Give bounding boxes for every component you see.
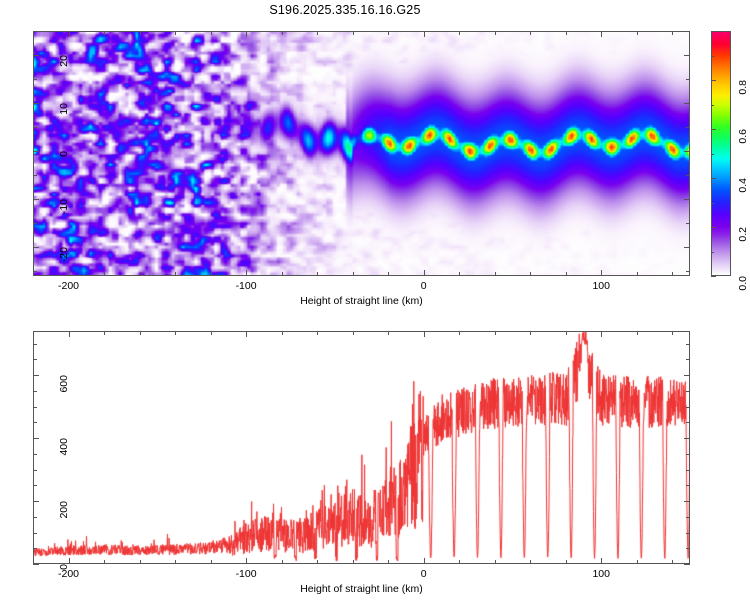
snr-x-top-tick: [637, 331, 638, 335]
spec-y-right-tick: [684, 55, 690, 56]
spec-x-minor-tick: [637, 272, 638, 276]
spec-y-right-tick: [686, 79, 690, 80]
snr-x-top-tick: [246, 331, 247, 337]
spec-y-right-tick: [684, 151, 690, 152]
snr-y-tick: [33, 533, 37, 534]
colorbar-tick: [711, 276, 716, 277]
colorbar-minor-tick: [711, 203, 714, 204]
snr-y-right-tick: [686, 391, 690, 392]
snr-y-tick: [33, 438, 39, 439]
snr-plot-area: [33, 331, 690, 564]
spec-x-minor-tick: [672, 272, 673, 276]
snr-y-right-tick: [686, 407, 690, 408]
snr-x-minor-tick: [672, 560, 673, 564]
snr-x-minor-tick: [530, 560, 531, 564]
snr-y-tick: [33, 470, 37, 471]
snr-x-top-tick: [530, 331, 531, 335]
snr-y-right-tick: [686, 485, 690, 486]
spec-x-top-tick: [282, 31, 283, 35]
spec-y-tick: [33, 175, 37, 176]
spec-y-tick: [33, 127, 37, 128]
colorbar: [711, 31, 731, 276]
colorbar-tick-label: 0.6: [737, 129, 749, 169]
snr-x-minor-tick: [353, 560, 354, 564]
snr-y-tick: [33, 375, 39, 376]
snr-y-right-tick: [686, 454, 690, 455]
snr-x-minor-tick: [495, 560, 496, 564]
snr-x-tick-label: 0: [394, 568, 454, 580]
spec-x-top-tick: [495, 31, 496, 35]
spec-y-tick-label: 10: [58, 103, 70, 143]
snr-y-tick: [33, 454, 37, 455]
snr-y-tick: [33, 548, 37, 549]
snr-x-minor-tick: [211, 560, 212, 564]
snr-x-top-tick: [601, 331, 602, 337]
colorbar-minor-tick: [711, 252, 714, 253]
spec-x-tick-label: 100: [571, 280, 631, 292]
snr-y-tick: [33, 359, 37, 360]
snr-y-tick: [33, 517, 37, 518]
colorbar-tick-label: 0.4: [737, 178, 749, 218]
spec-x-top-tick: [637, 31, 638, 35]
spec-y-tick: [33, 55, 39, 56]
spec-x-top-tick: [566, 31, 567, 35]
spec-x-minor-tick: [282, 272, 283, 276]
spectrogram-plot-area: [33, 31, 690, 276]
snr-x-top-tick: [211, 331, 212, 335]
spec-y-tick: [33, 247, 39, 248]
snr-x-minor-tick: [566, 560, 567, 564]
spec-x-top-tick: [424, 31, 425, 37]
colorbar-tick: [711, 129, 716, 130]
spectrogram-canvas: [34, 32, 690, 276]
spec-x-top-tick: [140, 31, 141, 35]
spec-x-minor-tick: [495, 272, 496, 276]
spec-x-top-tick: [175, 31, 176, 35]
snr-x-top-tick: [566, 331, 567, 335]
snr-x-top-tick: [317, 331, 318, 335]
snr-x-top-tick: [69, 331, 70, 337]
snr-y-tick: [33, 391, 37, 392]
spec-y-tick-label: 20: [58, 55, 70, 95]
spec-y-tick: [33, 199, 39, 200]
snr-x-top-tick: [353, 331, 354, 335]
spec-x-top-tick: [317, 31, 318, 35]
spec-y-tick: [33, 31, 37, 32]
snr-x-minor-tick: [140, 560, 141, 564]
spec-y-tick: [33, 271, 37, 272]
spec-x-top-tick: [388, 31, 389, 35]
colorbar-minor-tick: [711, 56, 714, 57]
spec-x-minor-tick: [140, 272, 141, 276]
spec-x-top-tick: [104, 31, 105, 35]
snr-y-tick-label: 600: [58, 375, 70, 415]
snr-y-right-tick: [686, 548, 690, 549]
spec-y-right-tick: [686, 175, 690, 176]
spec-x-top-tick: [601, 31, 602, 37]
spec-x-minor-tick: [388, 272, 389, 276]
spec-x-minor-tick: [353, 272, 354, 276]
snr-y-right-tick: [684, 501, 690, 502]
snr-y-right-tick: [686, 533, 690, 534]
spec-x-tick-label: -100: [216, 280, 276, 292]
snr-x-top-tick: [495, 331, 496, 335]
spec-x-minor-tick: [33, 272, 34, 276]
spec-x-tick-label: 0: [394, 280, 454, 292]
snr-y-right-tick: [684, 564, 690, 565]
colorbar-minor-tick: [711, 154, 714, 155]
snr-y-tick: [33, 344, 37, 345]
snr-y-tick-label: 400: [58, 438, 70, 478]
spec-y-tick: [33, 79, 37, 80]
snr-x-minor-tick: [601, 558, 602, 564]
snr-x-axis-title: Height of straight line (km): [33, 583, 690, 595]
spec-y-right-tick: [684, 103, 690, 104]
snr-y-right-tick: [686, 344, 690, 345]
spectrogram-x-axis-title: Height of straight line (km): [33, 295, 690, 307]
spec-y-right-tick: [684, 199, 690, 200]
figure-root: S196.2025.335.16.16.G25 Frequency (Hz) H…: [0, 0, 750, 600]
spec-x-top-tick: [69, 31, 70, 37]
spec-x-minor-tick: [211, 272, 212, 276]
spec-x-minor-tick: [459, 272, 460, 276]
spec-y-right-tick: [686, 223, 690, 224]
snr-x-top-tick: [388, 331, 389, 335]
snr-x-minor-tick: [637, 560, 638, 564]
spec-y-tick-label: 0: [58, 151, 70, 191]
snr-y-tick: [33, 485, 37, 486]
spec-y-tick: [33, 151, 39, 152]
snr-y-tick: [33, 407, 37, 408]
snr-x-minor-tick: [246, 558, 247, 564]
snr-y-right-tick: [686, 470, 690, 471]
snr-x-minor-tick: [317, 560, 318, 564]
snr-x-minor-tick: [388, 560, 389, 564]
snr-x-minor-tick: [104, 560, 105, 564]
spec-x-top-tick: [672, 31, 673, 35]
snr-x-top-tick: [33, 331, 34, 335]
snr-y-tick-label: 0: [58, 564, 70, 604]
spec-x-top-tick: [530, 31, 531, 35]
snr-x-top-tick: [459, 331, 460, 335]
snr-y-right-tick: [684, 375, 690, 376]
spec-x-minor-tick: [530, 272, 531, 276]
spec-x-minor-tick: [317, 272, 318, 276]
colorbar-tick-label: 0.8: [737, 80, 749, 120]
spec-y-right-tick: [686, 271, 690, 272]
snr-y-tick: [33, 422, 37, 423]
snr-y-right-tick: [686, 359, 690, 360]
spec-x-minor-tick: [246, 270, 247, 276]
spec-y-right-tick: [684, 247, 690, 248]
spec-y-right-tick: [686, 31, 690, 32]
spec-x-minor-tick: [424, 270, 425, 276]
snr-x-top-tick: [140, 331, 141, 335]
snr-x-minor-tick: [424, 558, 425, 564]
snr-x-top-tick: [175, 331, 176, 335]
spec-x-minor-tick: [104, 272, 105, 276]
colorbar-minor-tick: [711, 105, 714, 106]
spec-x-top-tick: [246, 31, 247, 37]
snr-x-top-tick: [672, 331, 673, 335]
spec-x-top-tick: [459, 31, 460, 35]
spec-x-top-tick: [211, 31, 212, 35]
snr-y-right-tick: [686, 422, 690, 423]
snr-x-top-tick: [424, 331, 425, 337]
snr-y-right-tick: [686, 517, 690, 518]
spec-x-minor-tick: [566, 272, 567, 276]
colorbar-tick-label: 0.2: [737, 227, 749, 267]
snr-x-top-tick: [104, 331, 105, 335]
snr-x-tick-label: -100: [216, 568, 276, 580]
snr-y-tick: [33, 564, 39, 565]
snr-canvas: [34, 332, 690, 564]
colorbar-tick: [711, 80, 716, 81]
spec-y-tick: [33, 103, 39, 104]
page-title: S196.2025.335.16.16.G25: [0, 3, 690, 17]
spec-x-top-tick: [353, 31, 354, 35]
colorbar-tick: [711, 178, 716, 179]
snr-x-tick-label: 100: [571, 568, 631, 580]
spec-x-minor-tick: [601, 270, 602, 276]
spec-y-tick-label: -10: [58, 199, 70, 239]
snr-x-top-tick: [282, 331, 283, 335]
snr-x-minor-tick: [459, 560, 460, 564]
snr-y-tick: [33, 501, 39, 502]
spec-y-right-tick: [686, 127, 690, 128]
snr-y-tick-label: 200: [58, 501, 70, 541]
colorbar-tick: [711, 227, 716, 228]
snr-x-minor-tick: [175, 560, 176, 564]
spec-y-tick-label: -20: [58, 247, 70, 287]
snr-x-minor-tick: [282, 560, 283, 564]
spec-x-minor-tick: [175, 272, 176, 276]
snr-y-right-tick: [684, 438, 690, 439]
colorbar-tick-label: 0.0: [737, 276, 749, 316]
spec-y-tick: [33, 223, 37, 224]
